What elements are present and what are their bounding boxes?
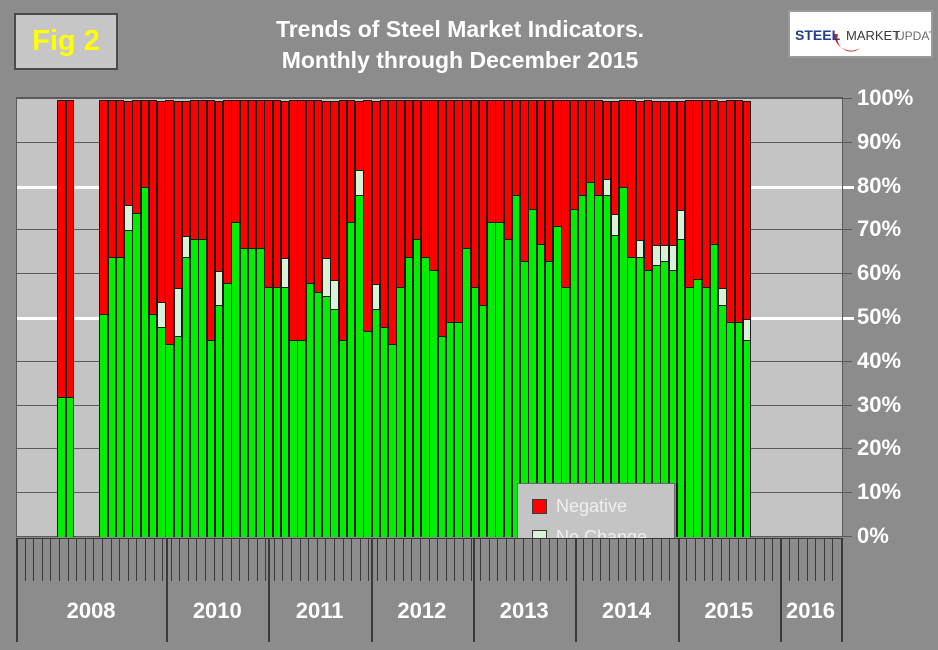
month-tick [300, 539, 301, 581]
month-tick [463, 539, 464, 581]
month-tick [282, 539, 283, 581]
y-axis-label-0: 0% [857, 525, 889, 547]
y-axis-tick-60 [843, 273, 852, 274]
y-axis-label-40: 40% [857, 350, 901, 372]
month-tick [635, 539, 636, 581]
month-tick [746, 539, 747, 581]
month-tick [102, 539, 103, 581]
chart-title-line-2: Monthly through December 2015 [150, 45, 770, 76]
month-tick [600, 539, 601, 581]
y-axis-tick-0 [843, 536, 852, 537]
y-axis-label-90: 90% [857, 131, 901, 153]
month-tick [523, 539, 524, 581]
month-tick [643, 539, 644, 581]
x-axis-year-2008: 2008 [16, 598, 166, 624]
month-tick [532, 539, 533, 581]
year-separator [780, 538, 782, 642]
logo-word-market: MARKET [846, 28, 900, 43]
figure-tag-label: Fig 2 [32, 27, 100, 56]
month-tick [257, 539, 258, 581]
y-axis-label-80: 80% [857, 175, 901, 197]
logo-artwork: STEEL MARKET UPDATE [790, 12, 931, 56]
month-tick [764, 539, 765, 581]
y-axis-label-20: 20% [857, 437, 901, 459]
month-tick [686, 539, 687, 581]
month-tick [429, 539, 430, 581]
month-tick [317, 539, 318, 581]
year-separator [473, 538, 475, 642]
month-tick [239, 539, 240, 581]
year-separator [841, 538, 843, 642]
month-tick [437, 539, 438, 581]
month-tick [738, 539, 739, 581]
month-tick [231, 539, 232, 581]
month-tick [618, 539, 619, 581]
y-axis-label-60: 60% [857, 262, 901, 284]
y-axis-label-70: 70% [857, 218, 901, 240]
year-separator [166, 538, 168, 642]
y-axis-tick-70 [843, 229, 852, 230]
month-tick [171, 539, 172, 581]
legend-swatch-negative [532, 499, 547, 514]
month-tick [729, 539, 730, 581]
month-tick [755, 539, 756, 581]
month-tick [50, 539, 51, 581]
month-tick [188, 539, 189, 581]
y-axis-tick-90 [843, 142, 852, 143]
month-tick [128, 539, 129, 581]
month-tick [815, 539, 816, 581]
month-tick [360, 539, 361, 581]
month-tick [205, 539, 206, 581]
month-tick [566, 539, 567, 581]
month-tick [343, 539, 344, 581]
month-tick [214, 539, 215, 581]
month-tick [248, 539, 249, 581]
month-tick [291, 539, 292, 581]
bar-segment-pos [66, 397, 75, 537]
month-tick [420, 539, 421, 581]
page-title: Trends of Steel Market Indicators. Month… [150, 14, 770, 75]
month-tick [394, 539, 395, 581]
bar-segment-neg [66, 100, 75, 398]
year-separator [678, 538, 680, 642]
bar-series-group [17, 98, 842, 536]
month-tick [351, 539, 352, 581]
month-tick [154, 539, 155, 581]
month-tick [196, 539, 197, 581]
y-axis-label-100: 100% [857, 87, 913, 109]
bar-segment-neg [743, 101, 752, 320]
month-tick [42, 539, 43, 581]
month-tick [721, 539, 722, 581]
month-tick [704, 539, 705, 581]
month-tick [308, 539, 309, 581]
month-tick [403, 539, 404, 581]
y-axis-tick-80 [843, 186, 854, 189]
x-axis-year-labels: 20082010201120122013201420152016 [16, 590, 843, 642]
month-tick [93, 539, 94, 581]
month-tick [789, 539, 790, 581]
bar-column [66, 98, 75, 536]
month-tick [274, 539, 275, 581]
year-separator [268, 538, 270, 642]
month-tick [609, 539, 610, 581]
month-tick [85, 539, 86, 581]
logo-word-steel: STEEL [795, 27, 841, 43]
month-tick [497, 539, 498, 581]
y-axis-tick-20 [843, 448, 852, 449]
month-tick [454, 539, 455, 581]
month-tick [25, 539, 26, 581]
month-tick [334, 539, 335, 581]
bar-column [743, 98, 752, 536]
month-tick [514, 539, 515, 581]
x-axis-year-2013: 2013 [473, 598, 575, 624]
month-tick [76, 539, 77, 581]
month-tick [557, 539, 558, 581]
month-tick [506, 539, 507, 581]
month-tick [386, 539, 387, 581]
chart-plot-area: Negative No Change Positive [16, 97, 843, 537]
year-separator [575, 538, 577, 642]
bar-segment-pos [743, 340, 752, 537]
y-axis-tick-100 [843, 98, 852, 99]
month-tick [652, 539, 653, 581]
month-tick [695, 539, 696, 581]
month-tick [446, 539, 447, 581]
x-axis-year-2011: 2011 [268, 598, 370, 624]
y-axis-label-10: 10% [857, 481, 901, 503]
figure-tag-box: Fig 2 [14, 13, 118, 70]
x-axis-year-2016: 2016 [780, 598, 841, 624]
y-axis-tick-10 [843, 492, 852, 493]
month-tick [480, 539, 481, 581]
month-tick [145, 539, 146, 581]
month-tick [119, 539, 120, 581]
y-axis-tick-40 [843, 361, 852, 362]
month-tick [265, 539, 266, 581]
month-tick [549, 539, 550, 581]
month-tick [136, 539, 137, 581]
y-axis-label-30: 30% [857, 394, 901, 416]
month-tick [377, 539, 378, 581]
month-tick [592, 539, 593, 581]
y-axis-tick-30 [843, 405, 852, 406]
month-tick [626, 539, 627, 581]
month-tick [411, 539, 412, 581]
month-tick [489, 539, 490, 581]
steel-market-update-logo: STEEL MARKET UPDATE [788, 10, 933, 58]
chart-title-line-1: Trends of Steel Market Indicators. [150, 14, 770, 45]
y-axis: 0%10%20%30%40%50%60%70%80%90%100% [843, 97, 938, 538]
month-tick [807, 539, 808, 581]
x-axis-month-ticks [16, 538, 843, 590]
year-separator [16, 538, 18, 642]
month-tick [832, 539, 833, 581]
month-tick [33, 539, 34, 581]
month-tick [179, 539, 180, 581]
month-tick [540, 539, 541, 581]
bar-segment-nc [743, 319, 752, 341]
month-tick [661, 539, 662, 581]
year-separator [371, 538, 373, 642]
month-tick [669, 539, 670, 581]
month-tick [68, 539, 69, 581]
month-tick [712, 539, 713, 581]
month-tick [368, 539, 369, 581]
month-tick [824, 539, 825, 581]
y-axis-tick-50 [843, 317, 854, 320]
x-axis-year-2010: 2010 [166, 598, 268, 624]
x-axis-year-2014: 2014 [575, 598, 677, 624]
logo-word-update: UPDATE [896, 29, 931, 43]
month-tick [325, 539, 326, 581]
legend-item-negative: Negative [532, 491, 674, 522]
month-tick [162, 539, 163, 581]
month-tick [111, 539, 112, 581]
month-tick [798, 539, 799, 581]
x-axis-year-2015: 2015 [678, 598, 780, 624]
month-tick [772, 539, 773, 581]
x-axis-year-2012: 2012 [371, 598, 473, 624]
legend-label-negative: Negative [556, 496, 627, 517]
month-tick [59, 539, 60, 581]
month-tick [583, 539, 584, 581]
y-axis-label-50: 50% [857, 306, 901, 328]
month-tick [222, 539, 223, 581]
